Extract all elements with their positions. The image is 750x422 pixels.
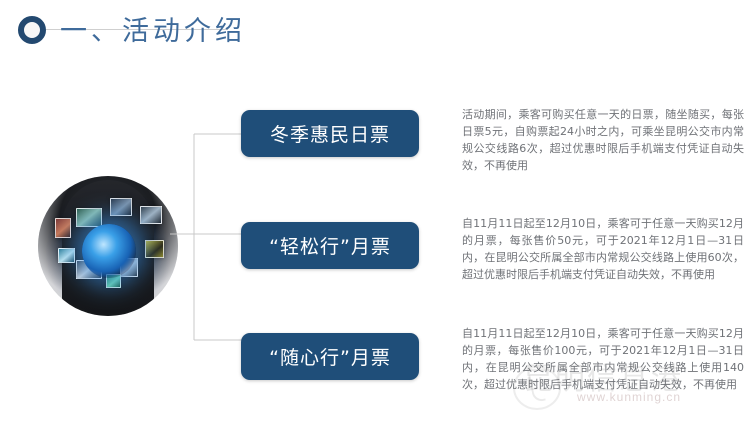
floating-thumbnail [76,260,102,279]
ring-bullet-icon [18,16,46,44]
illustration-circle-photo [38,176,178,316]
description-free-travel-month-pass: 自11月11日起至12月10日，乘客可于任意一天购买12月的月票，每张售价100… [462,325,744,393]
floating-thumbnail [145,240,164,258]
page-title: 一、活动介绍 [60,9,246,48]
floating-thumbnail [55,218,71,238]
floating-thumbnail [140,206,162,224]
ticket-card-easy-travel-month-pass[interactable]: “轻松行”月票 [241,222,419,269]
floating-thumbnail [58,248,75,263]
page-header: 一、活动介绍 [0,0,750,62]
floating-thumbnail [110,198,132,216]
ticket-card-free-travel-month-pass[interactable]: “随心行”月票 [241,333,419,380]
description-easy-travel-month-pass: 自11月11日起至12月10日，乘客可于任意一天购买12月的月票，每张售价50元… [462,215,744,283]
floating-thumbnail [106,274,121,288]
floating-thumbnail [120,258,138,277]
illustration-image [38,176,178,316]
description-winter-day-pass: 活动期间，乘客可购买任意一天的日票，随坐随买，每张日票5元，自购票起24小时之内… [462,106,744,174]
floating-thumbnail [76,208,102,227]
ticket-card-winter-day-pass[interactable]: 冬季惠民日票 [241,110,419,157]
